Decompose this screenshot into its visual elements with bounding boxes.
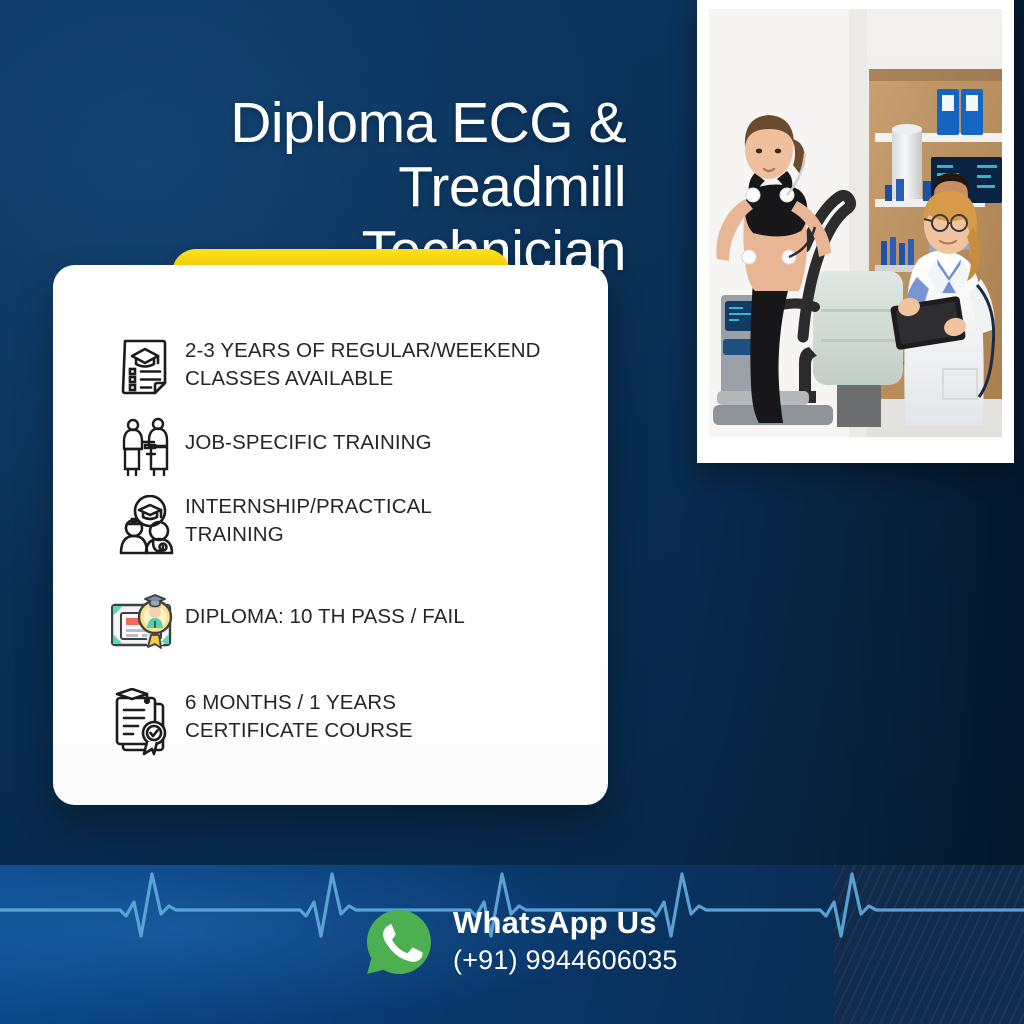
- feature-line-1: DIPLOMA: 10 TH PASS / FAIL: [185, 605, 465, 628]
- internship-medical-staff-icon: [109, 485, 185, 569]
- poster-canvas: Diploma ECG & Treadmill Technician: [0, 0, 1024, 1024]
- list-item-text: DIPLOMA: 10 TH PASS / FAIL: [185, 573, 465, 631]
- list-item: JOB-SPECIFIC TRAINING: [109, 409, 582, 481]
- features-card: 2-3 YEARS OF REGULAR/WEEKEND CLASSES AVA…: [53, 265, 608, 805]
- feature-line-2: CLASSES AVAILABLE: [185, 367, 393, 390]
- list-item: 2-3 YEARS OF REGULAR/WEEKEND CLASSES AVA…: [109, 329, 582, 405]
- list-item-text: INTERNSHIP/PRACTICAL TRAINING: [185, 485, 432, 550]
- feature-line-1: INTERNSHIP/PRACTICAL: [185, 495, 432, 518]
- list-item: DIPLOMA: 10 TH PASS / FAIL: [109, 573, 582, 661]
- feature-line-1: JOB-SPECIFIC TRAINING: [185, 431, 432, 454]
- features-list: 2-3 YEARS OF REGULAR/WEEKEND CLASSES AVA…: [109, 329, 582, 769]
- diploma-certificate-medal-icon: [109, 573, 185, 661]
- hero-photo-illustration: [709, 9, 1002, 437]
- list-item: INTERNSHIP/PRACTICAL TRAINING: [109, 485, 582, 569]
- certificate-scroll-seal-icon: [109, 677, 185, 769]
- list-item: 6 MONTHS / 1 YEARS CERTIFICATE COURSE: [109, 677, 582, 769]
- feature-line-1: 2-3 YEARS OF REGULAR/WEEKEND: [185, 339, 541, 362]
- hero-photo: [709, 9, 1002, 437]
- list-item-text: 2-3 YEARS OF REGULAR/WEEKEND CLASSES AVA…: [185, 329, 541, 394]
- whatsapp-phone[interactable]: (+91) 9944606035: [453, 944, 678, 978]
- feature-line-2: TRAINING: [185, 523, 284, 546]
- whatsapp-cta-label: WhatsApp Us: [453, 905, 657, 940]
- feature-line-2: CERTIFICATE COURSE: [185, 719, 413, 742]
- photo-frame: [697, 0, 1014, 463]
- whatsapp-icon[interactable]: [363, 906, 435, 978]
- feature-line-1: 6 MONTHS / 1 YEARS: [185, 691, 396, 714]
- list-item-text: JOB-SPECIFIC TRAINING: [185, 409, 432, 457]
- whatsapp-cta[interactable]: WhatsApp Us (+91) 9944606035: [363, 906, 678, 978]
- headline-line-1: Diploma ECG & Treadmill: [36, 92, 626, 220]
- whatsapp-text: WhatsApp Us (+91) 9944606035: [453, 906, 678, 978]
- list-item-text: 6 MONTHS / 1 YEARS CERTIFICATE COURSE: [185, 677, 413, 746]
- document-graduation-checklist-icon: [109, 329, 185, 405]
- job-training-people-icon: [109, 409, 185, 481]
